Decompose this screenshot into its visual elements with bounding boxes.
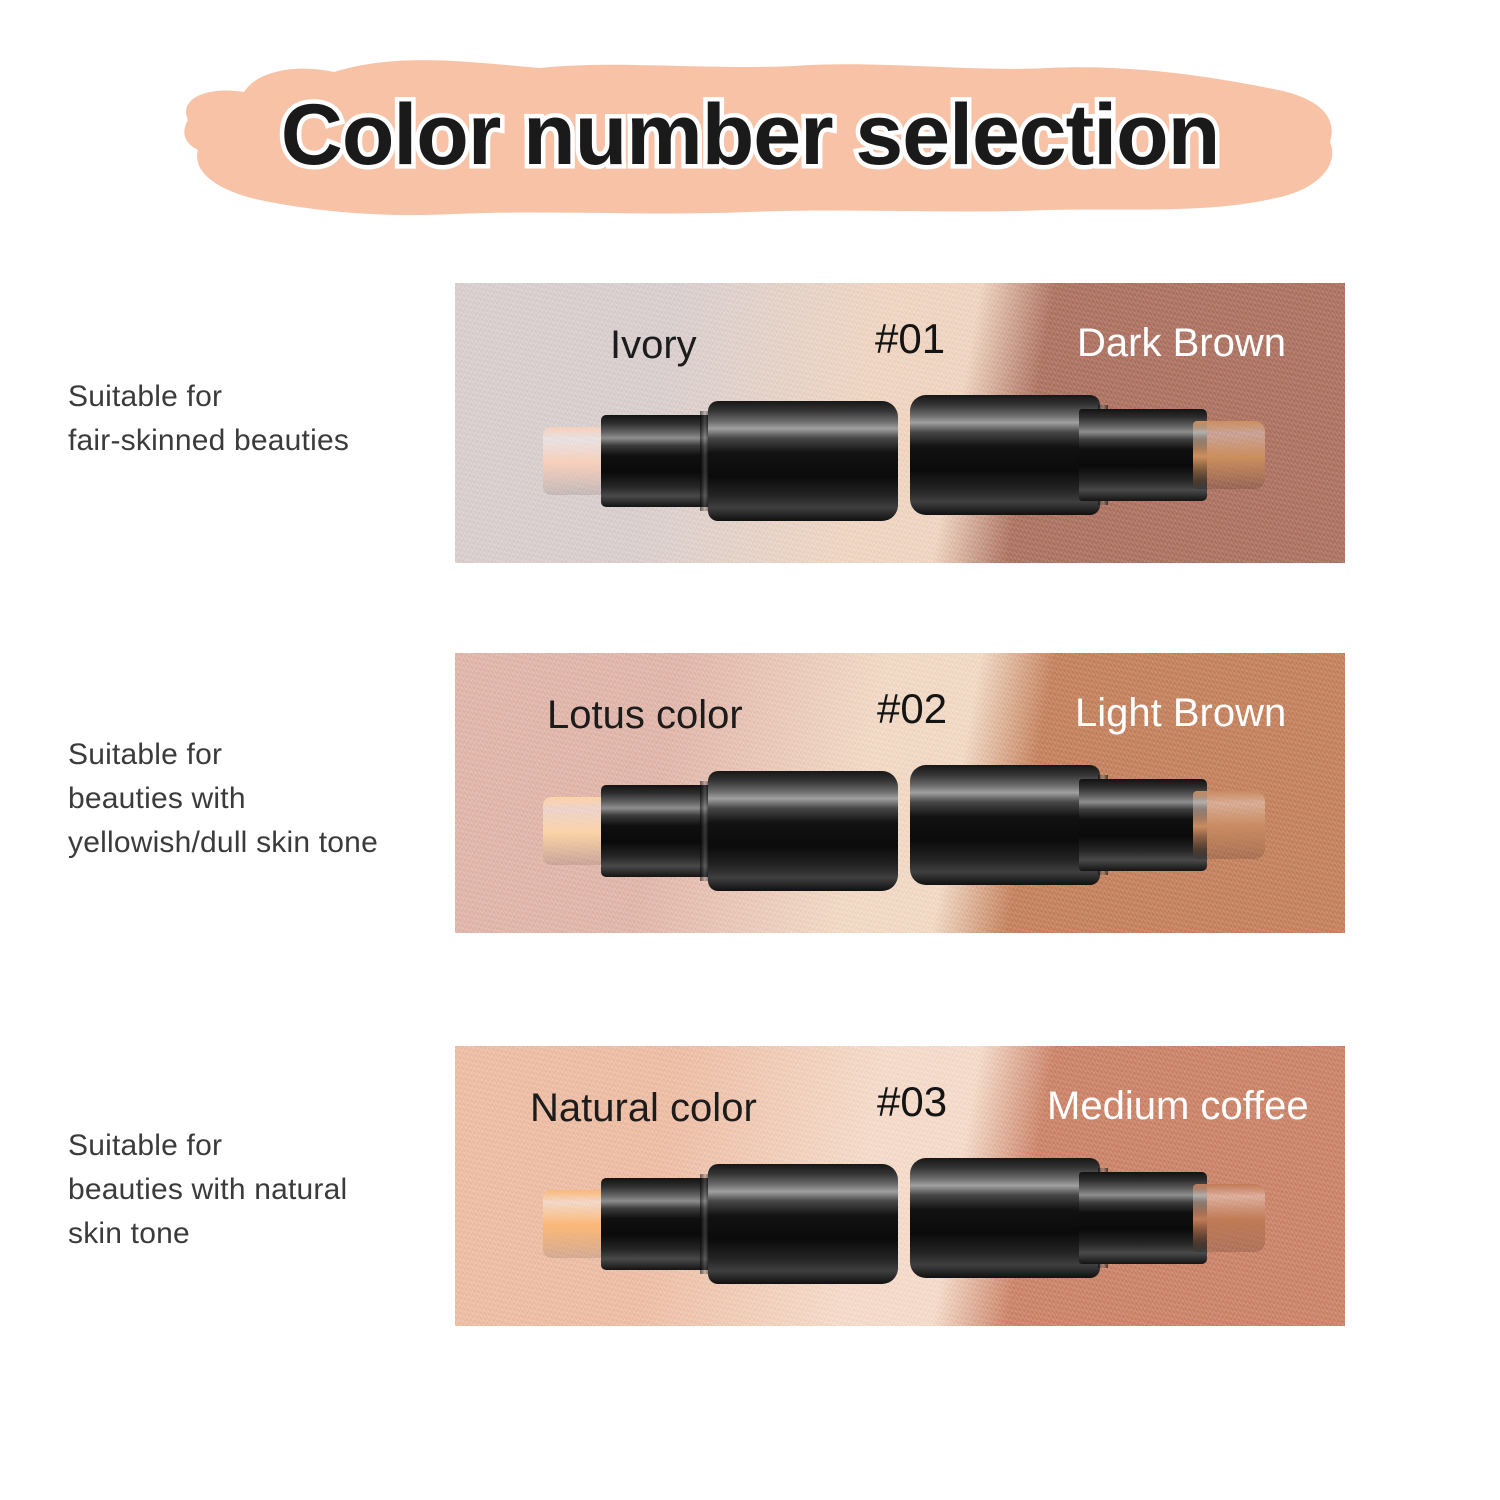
shade-caption-03: Suitable for beauties with natural skin …: [68, 1124, 448, 1256]
shade-number: #02: [877, 685, 947, 733]
page-title: Color number selection: [0, 86, 1500, 185]
product-tip-right: [1193, 1184, 1265, 1252]
product-barrel: [1079, 779, 1207, 871]
shade-caption-02: Suitable for beauties with yellowish/dul…: [68, 733, 448, 865]
shade-row-02: Suitable for beauties with yellowish/dul…: [0, 653, 1500, 933]
caption-line: beauties with: [68, 777, 448, 821]
product-tip-right: [1193, 421, 1265, 489]
shade-row-03: Suitable for beauties with natural skin …: [0, 1046, 1500, 1326]
product-stick-right: [910, 395, 1265, 515]
shade-name-right: Light Brown: [1075, 691, 1286, 736]
product-cap: [708, 401, 898, 521]
shade-number: #03: [877, 1078, 947, 1126]
shade-name-right: Medium coffee: [1047, 1084, 1309, 1129]
product-stick-right: [910, 1158, 1265, 1278]
product-stick-right: [910, 765, 1265, 885]
product-cap: [708, 771, 898, 891]
caption-line: Suitable for: [68, 375, 448, 419]
product-cap: [910, 395, 1100, 515]
product-cap: [910, 765, 1100, 885]
shade-caption-01: Suitable for fair-skinned beauties: [68, 375, 448, 463]
product-stick-left: [543, 401, 898, 521]
caption-line: fair-skinned beauties: [68, 419, 448, 463]
product-cap: [708, 1164, 898, 1284]
product-stick-left: [543, 1164, 898, 1284]
shade-name-left: Lotus color: [547, 693, 743, 738]
caption-line: skin tone: [68, 1212, 448, 1256]
shade-swatch-panel-01: Ivory #01 Dark Brown: [455, 283, 1345, 563]
product-cap: [910, 1158, 1100, 1278]
shade-swatch-panel-03: Natural color #03 Medium coffee: [455, 1046, 1345, 1326]
shade-number: #01: [875, 315, 945, 363]
product-barrel: [1079, 1172, 1207, 1264]
product-tip-right: [1193, 791, 1265, 859]
shade-row-01: Suitable for fair-skinned beauties Ivory…: [0, 283, 1500, 563]
caption-line: beauties with natural: [68, 1168, 448, 1212]
caption-line: yellowish/dull skin tone: [68, 821, 448, 865]
caption-line: Suitable for: [68, 1124, 448, 1168]
shade-name-right: Dark Brown: [1077, 321, 1286, 366]
shade-name-left: Ivory: [610, 323, 697, 368]
caption-line: Suitable for: [68, 733, 448, 777]
page-header: Color number selection: [0, 40, 1500, 240]
product-barrel: [1079, 409, 1207, 501]
product-stick-left: [543, 771, 898, 891]
shade-name-left: Natural color: [530, 1086, 757, 1131]
shade-swatch-panel-02: Lotus color #02 Light Brown: [455, 653, 1345, 933]
